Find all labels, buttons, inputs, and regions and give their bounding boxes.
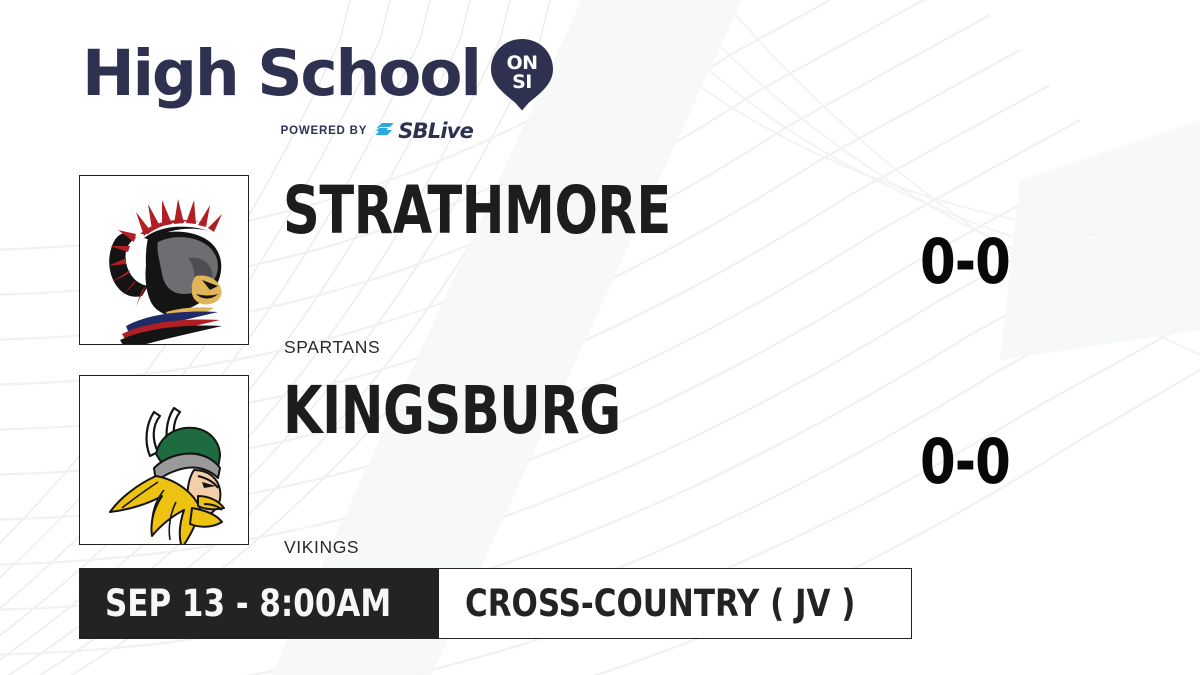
brand-lockup: High School ON SI POWERED BY SBLive	[82, 36, 554, 143]
sblive-logo: SBLive	[374, 119, 473, 143]
sblive-s-icon	[374, 121, 396, 141]
powered-by-row: POWERED BY SBLive	[82, 119, 554, 143]
team-record: 0-0	[920, 431, 1010, 493]
powered-by-label: POWERED BY	[281, 125, 368, 137]
sport-label: CROSS-COUNTRY ( JV )	[465, 582, 855, 625]
sport-chip: CROSS-COUNTRY ( JV )	[439, 568, 912, 639]
team-name: KINGSBURG	[283, 378, 621, 444]
kingsburg-vikings-logo	[79, 375, 249, 545]
team-name: STRATHMORE	[283, 178, 671, 244]
svg-text:SI: SI	[512, 71, 532, 93]
team-record: 0-0	[920, 231, 1010, 293]
game-datetime: SEP 13 - 8:00AM	[105, 582, 391, 625]
game-datetime-chip: SEP 13 - 8:00AM	[79, 568, 439, 639]
strathmore-spartans-logo	[79, 175, 249, 345]
team-mascot: VIKINGS	[284, 537, 359, 558]
brand-title: High School	[82, 44, 480, 104]
on-si-pin-badge: ON SI	[490, 38, 554, 112]
game-info-bar: SEP 13 - 8:00AM CROSS-COUNTRY ( JV )	[79, 568, 912, 639]
team-mascot: SPARTANS	[284, 337, 380, 358]
sblive-wordmark: SBLive	[398, 119, 473, 143]
brand-row: High School ON SI	[82, 36, 554, 112]
matchup-graphic: High School ON SI POWERED BY SBLive	[0, 0, 1200, 675]
